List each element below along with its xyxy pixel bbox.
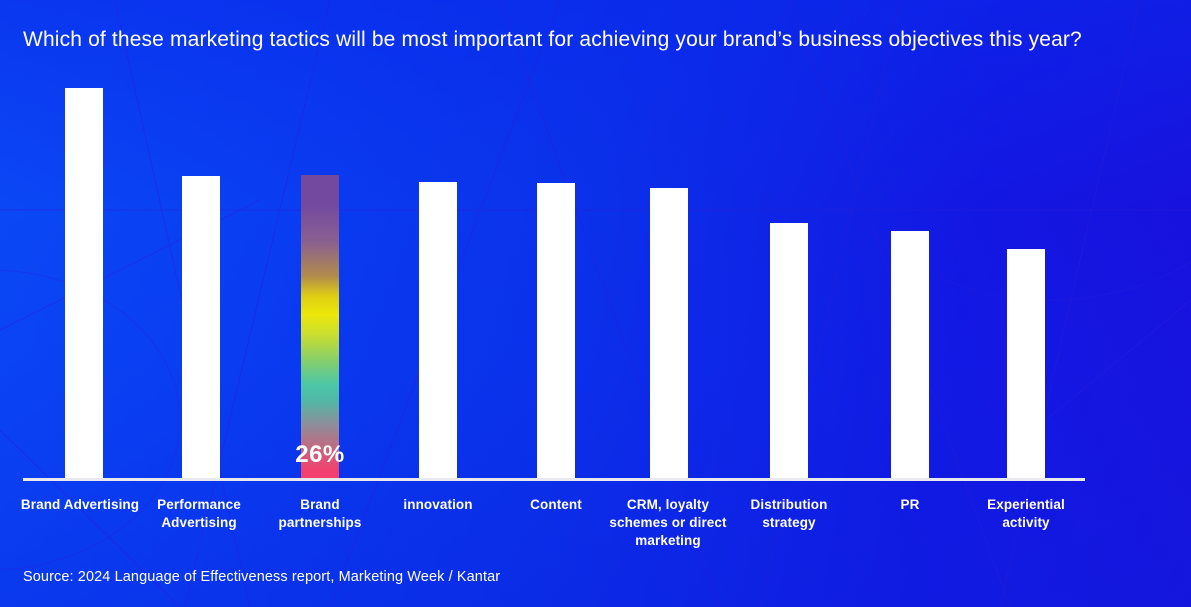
bar-distribution-strategy[interactable] xyxy=(770,223,808,479)
x-axis-baseline xyxy=(23,478,1085,481)
bar-experiential-activity[interactable] xyxy=(1007,249,1045,479)
chart-slide: Which of these marketing tactics will be… xyxy=(0,0,1191,607)
bar-performance-advertising[interactable] xyxy=(182,176,220,479)
bar-pr[interactable] xyxy=(891,231,929,479)
bar-crm-loyalty[interactable] xyxy=(650,188,688,479)
category-axis-labels: Brand Advertising PerformanceAdvertising… xyxy=(0,496,1191,556)
bar-brand-partnerships[interactable]: 26% xyxy=(301,175,339,479)
source-note: Source: 2024 Language of Effectiveness r… xyxy=(23,569,500,585)
cat-label-experiential-activity: Experientialactivity xyxy=(958,496,1094,532)
bar-content[interactable] xyxy=(537,183,575,479)
cat-label-distribution-strategy: Distributionstrategy xyxy=(721,496,857,532)
cat-label-brand-advertising: Brand Advertising xyxy=(10,496,150,514)
bar-brand-advertising[interactable] xyxy=(65,88,103,479)
cat-label-brand-partnerships: Brandpartnerships xyxy=(252,496,388,532)
bar-innovation[interactable] xyxy=(419,182,457,479)
cat-label-performance-advertising: PerformanceAdvertising xyxy=(131,496,267,532)
bar-value-label: 26% xyxy=(295,441,345,469)
cat-label-innovation: innovation xyxy=(370,496,506,514)
